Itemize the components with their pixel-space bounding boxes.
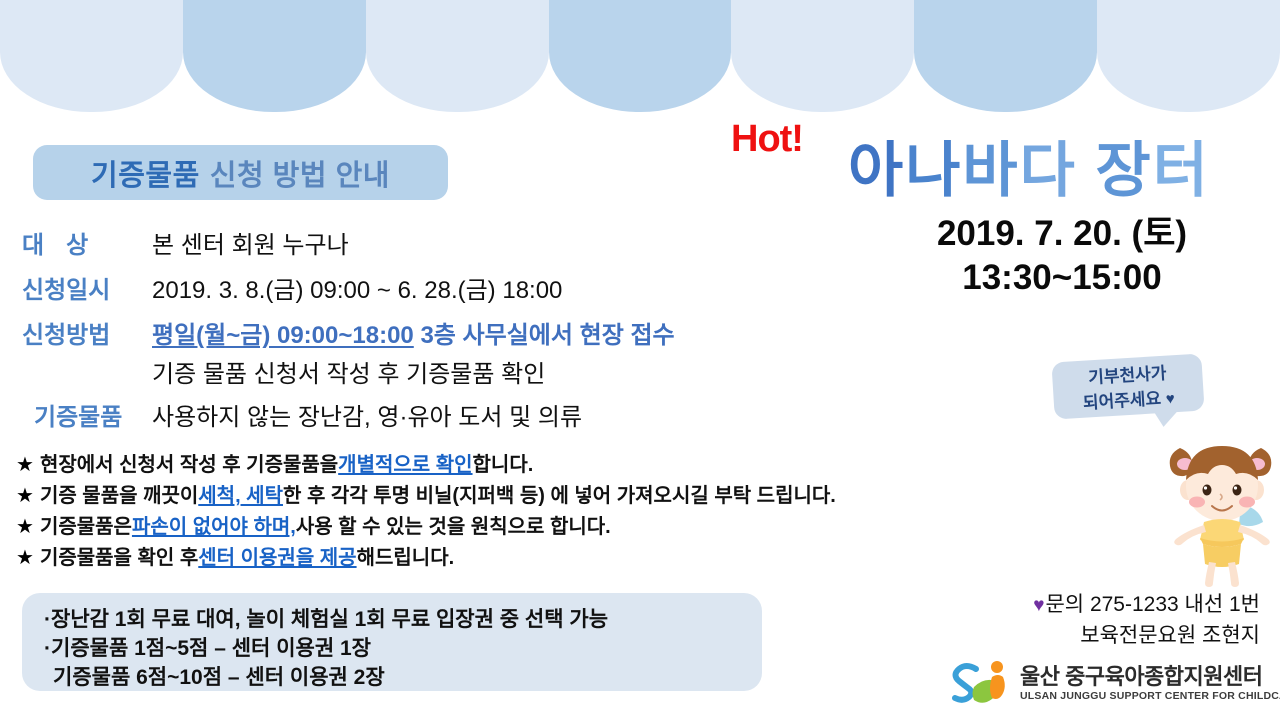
logo-text: 울산 중구육아종합지원센터 ULSAN JUNGGU SUPPORT CENTE… [1020,664,1280,703]
scallop-shape [914,0,1097,112]
notice-text-highlight: 세척, 세탁 [198,481,283,512]
title-char: 장 [1095,137,1152,204]
notice-item: ★ 기증 물품을 깨끗이 세척, 세탁한 후 각각 투명 비닐(지퍼백 등) 에… [16,481,1176,512]
logo-mark-icon [950,657,1016,709]
logo-korean-name: 울산 중구육아종합지원센터 [1020,664,1280,690]
info-row-target: 대상 본 센터 회원 누구나 [22,225,882,267]
star-icon: ★ [16,481,34,512]
scallop-shape [549,0,732,112]
contact-line2: 보육전문요원 조현지 [900,621,1260,651]
eye-glint-right [1234,486,1237,489]
scallop-shape [1097,0,1280,112]
notice-list: ★ 현장에서 신청서 작성 후 기증물품을 개별적으로 확인 합니다. ★ 기증… [16,450,1176,574]
scallop-shape [366,0,549,112]
notice-text-plain: 기증물품은 [40,512,132,543]
info-value-method-sub: 기증 물품 신청서 작성 후 기증물품 확인 [152,357,675,393]
title-space [1077,137,1096,204]
info-row-items: 기증물품 사용하지 않는 장난감, 영·유아 도서 및 의류 [22,397,882,439]
info-value-method: 평일(월~금) 09:00~18:00 3층 사무실에서 현장 접수 [152,315,675,357]
leg-right [1228,562,1239,587]
eye-right [1233,485,1242,496]
benefit-line: ·기증물품 1점~5점 – 센터 이용권 1장 [22,634,762,663]
title-char: 아 [848,137,905,204]
info-value-method-wrap: 평일(월~금) 09:00~18:00 3층 사무실에서 현장 접수 기증 물품… [152,315,675,393]
event-time: 13:30~15:00 [862,256,1262,300]
info-label-method: 신청방법 [22,315,152,357]
cheek-right [1239,497,1255,508]
notice-text-plain: 사용 할 수 있는 것을 원칙으로 합니다. [296,512,611,543]
heart-icon: ♥ [1165,390,1175,408]
scallop-shape [0,0,183,112]
logo-head-dot [991,661,1003,673]
speech-bubble-line2: 되어주세요 [1082,389,1161,413]
star-icon: ★ [16,512,34,543]
event-title: 아나바다 장터 [848,122,1210,209]
info-label-items: 기증물품 [22,397,152,439]
contact-block: ♥문의 275-1233 내선 1번 보육전문요원 조현지 [900,590,1260,651]
notice-text-plain: 현장에서 신청서 작성 후 기증물품을 [40,450,338,481]
notice-text-plain: 해드립니다. [357,543,455,574]
logo-english-name: ULSAN JUNGGU SUPPORT CENTER FOR CHILDCAR… [1020,690,1280,703]
info-label-target: 대상 [22,225,152,267]
info-row-method: 신청방법 평일(월~금) 09:00~18:00 3층 사무실에서 현장 접수 … [22,315,882,393]
info-row-period: 신청일시 2019. 3. 8.(금) 09:00 ~ 6. 28.(금) 18… [22,270,882,312]
star-icon: ★ [16,543,34,574]
notice-item: ★ 기증물품은 파손이 없어야 하며, 사용 할 수 있는 것을 원칙으로 합니… [16,512,1176,543]
scallop-banner [0,0,1280,112]
notice-text-highlight: 파손이 없어야 하며, [132,512,296,543]
heart-icon: ♥ [1033,595,1044,616]
organization-logo: 울산 중구육아종합지원센터 ULSAN JUNGGU SUPPORT CENTE… [950,655,1270,711]
info-value-target: 본 센터 회원 누구나 [152,225,349,267]
child-character-illustration [1163,432,1280,587]
notice-text-plain: 한 후 각각 투명 비닐(지퍼백 등) 에 넣어 가져오시길 부탁 드립니다. [283,481,836,512]
benefit-note-box: ·장난감 1회 무료 대여, 놀이 체험실 1회 무료 입장권 중 선택 가능 … [22,593,762,691]
info-value-method-rest: 3층 사무실에서 현장 접수 [414,322,675,349]
section-title-pill: 기증물품 신청 방법 안내 [33,145,448,200]
speech-bubble-text: 기부천사가 되어주세요 ♥ [1051,353,1204,418]
info-value-method-underlined: 평일(월~금) 09:00~18:00 [152,322,414,349]
benefit-line: 기증물품 6점~10점 – 센터 이용권 2장 [22,663,762,692]
pill-title-strong: 기증물품 [91,152,200,194]
eye-left [1203,485,1212,496]
notice-text-highlight: 개별적으로 확인 [338,450,472,481]
benefit-line: ·장난감 1회 무료 대여, 놀이 체험실 1회 무료 입장권 중 선택 가능 [22,593,762,634]
contact-line1-wrap: ♥문의 275-1233 내선 1번 [900,590,1260,621]
info-value-period: 2019. 3. 8.(금) 09:00 ~ 6. 28.(금) 18:00 [152,270,562,312]
title-char: 바 [962,137,1019,204]
leg-left [1205,562,1216,587]
notice-text-highlight: 센터 이용권을 제공 [198,543,356,574]
notice-text-plain: 기증물품을 확인 후 [40,543,198,574]
info-value-items: 사용하지 않는 장난감, 영·유아 도서 및 의류 [152,397,582,439]
notice-text-plain: 합니다. [473,450,534,481]
scallop-shape [183,0,366,112]
star-icon: ★ [16,450,34,481]
speech-bubble: 기부천사가 되어주세요 ♥ [1051,353,1204,419]
event-datetime: 2019. 7. 20. (토) 13:30~15:00 [862,212,1262,300]
speech-bubble-tail [1152,408,1181,428]
notice-item: ★ 현장에서 신청서 작성 후 기증물품을 개별적으로 확인 합니다. [16,450,1176,481]
hot-badge: Hot! [731,118,803,161]
poster-canvas: 기증물품 신청 방법 안내 대상 본 센터 회원 누구나 신청일시 2019. … [0,0,1280,720]
info-label-period: 신청일시 [22,270,152,312]
title-char: 터 [1153,137,1210,204]
logo-figure-body [990,675,1005,699]
pill-title-soft: 신청 방법 안내 [210,152,390,194]
title-char: 나 [905,137,962,204]
notice-text-plain: 기증 물품을 깨끗이 [40,481,198,512]
notice-item: ★ 기증물품을 확인 후 센터 이용권을 제공해드립니다. [16,543,1176,574]
event-date: 2019. 7. 20. (토) [862,212,1262,256]
eye-glint-left [1204,486,1207,489]
title-char: 다 [1020,137,1077,204]
scallop-shape [731,0,914,112]
cheek-left [1189,497,1205,508]
contact-line1: 문의 275-1233 내선 1번 [1045,593,1260,616]
info-rows: 대상 본 센터 회원 누구나 신청일시 2019. 3. 8.(금) 09:00… [22,225,882,442]
